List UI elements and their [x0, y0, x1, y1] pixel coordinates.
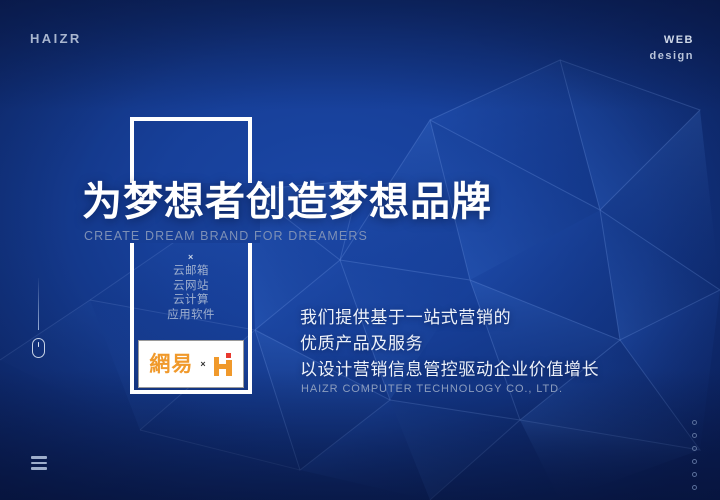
list-item[interactable]: 云网站: [133, 279, 249, 294]
netease-wordmark: 網易: [149, 354, 193, 375]
mouse-wheel-icon: [38, 342, 39, 347]
pager-dot[interactable]: [692, 485, 697, 490]
service-list: 云邮箱 云网站 云计算 应用软件: [133, 264, 249, 322]
list-item[interactable]: 云计算: [133, 293, 249, 308]
scroll-rail-line: [38, 278, 39, 330]
pager-dot[interactable]: [692, 433, 697, 438]
partner-logo-card[interactable]: 網易 ×: [138, 340, 244, 388]
hero-slide: HAIZR WEB design 为梦想者创造梦想品牌 CREATE DREAM…: [0, 0, 720, 500]
description-line: 以设计营销信息管控驱动企业价值增长: [300, 357, 599, 383]
tagline-web-design: WEB design: [650, 33, 694, 65]
tagline-line-1: WEB: [650, 33, 694, 49]
mouse-scroll-icon[interactable]: [32, 338, 45, 358]
menu-hamburger-icon[interactable]: [31, 456, 47, 470]
hamburger-bar: [31, 456, 47, 459]
background-edge-shade: [0, 0, 720, 500]
cross-mark: ×: [188, 252, 193, 262]
pager-dot[interactable]: [692, 446, 697, 451]
slide-pager[interactable]: [692, 420, 697, 490]
list-item[interactable]: 应用软件: [133, 308, 249, 323]
tagline-line-2: design: [650, 49, 694, 65]
company-legal-name: HAIZR COMPUTER TECHNOLOGY CO., LTD.: [301, 383, 563, 395]
site-logo-haizr[interactable]: HAIZR: [30, 31, 82, 46]
pager-dot[interactable]: [692, 420, 697, 425]
page-subtitle: CREATE DREAM BRAND FOR DREAMERS: [84, 229, 368, 243]
logo-cross-icon: ×: [200, 359, 205, 369]
hamburger-bar: [31, 462, 47, 465]
hero-description: 我们提供基于一站式营销的 优质产品及服务 以设计营销信息管控驱动企业价值增长: [300, 305, 599, 383]
pager-dot[interactable]: [692, 459, 697, 464]
hamburger-bar: [31, 467, 47, 470]
pager-dot[interactable]: [692, 472, 697, 477]
haizr-h-mark-icon: [213, 353, 233, 376]
description-line: 我们提供基于一站式营销的: [300, 305, 599, 331]
page-title: 为梦想者创造梦想品牌: [82, 181, 492, 224]
description-line: 优质产品及服务: [300, 331, 599, 357]
list-item[interactable]: 云邮箱: [133, 264, 249, 279]
